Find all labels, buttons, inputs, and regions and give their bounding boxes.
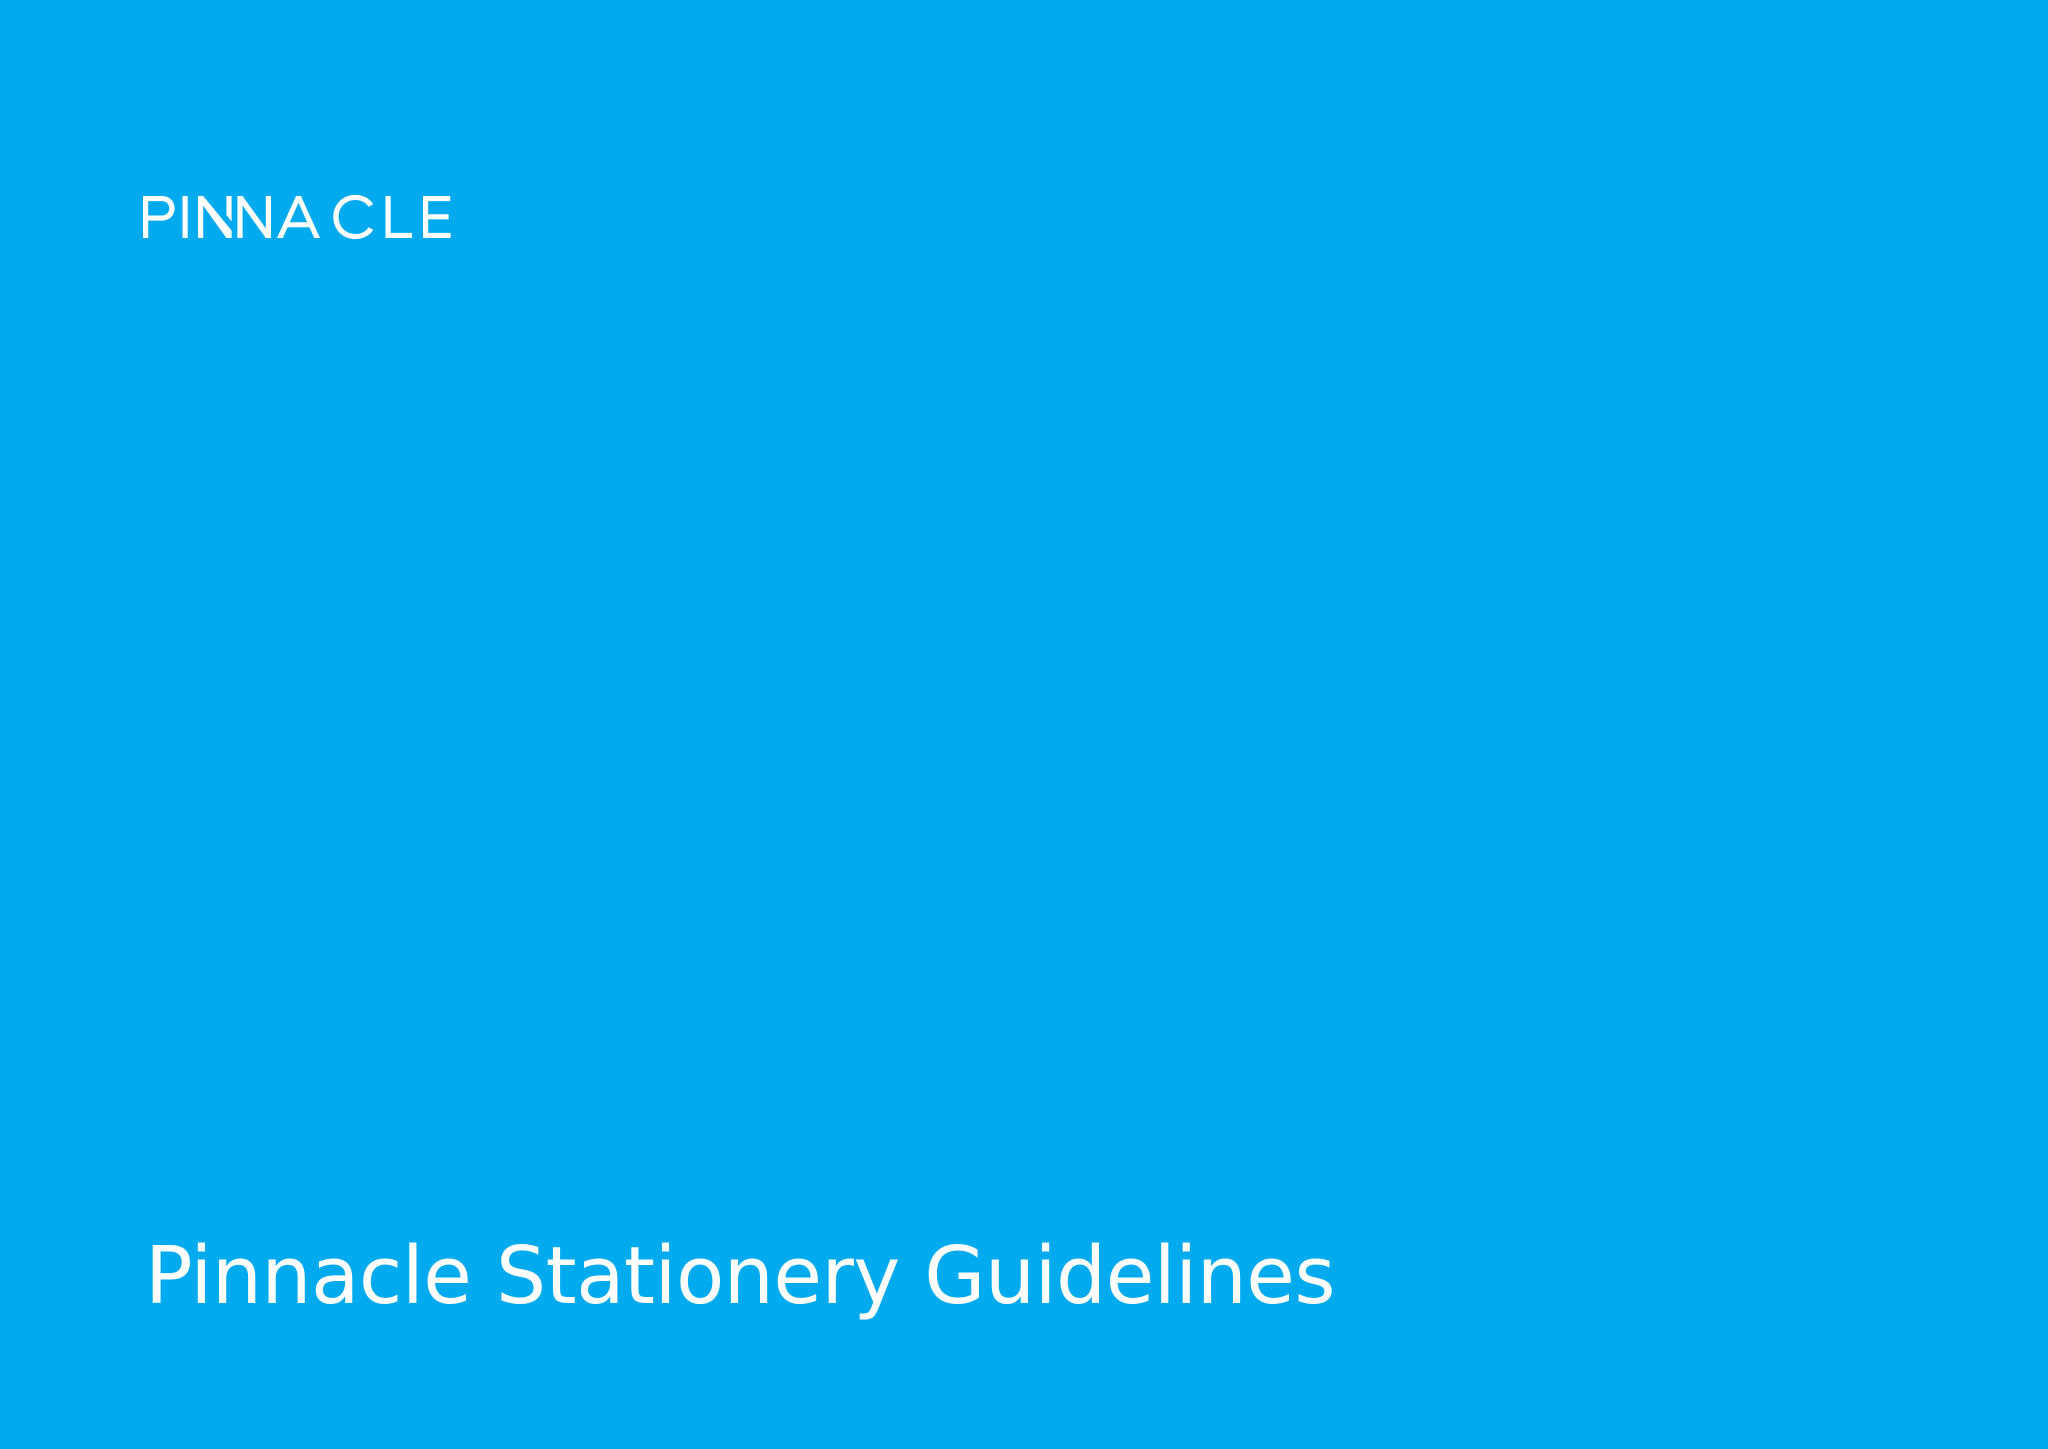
slide-title: Pinnacle Stationery Guidelines (145, 1237, 1335, 1316)
cover-slide: PINNACLE (0, 0, 2048, 1449)
pinnacle-logo[interactable]: PINNACLE (141, 188, 486, 246)
pinnacle-logo-icon (141, 188, 486, 246)
